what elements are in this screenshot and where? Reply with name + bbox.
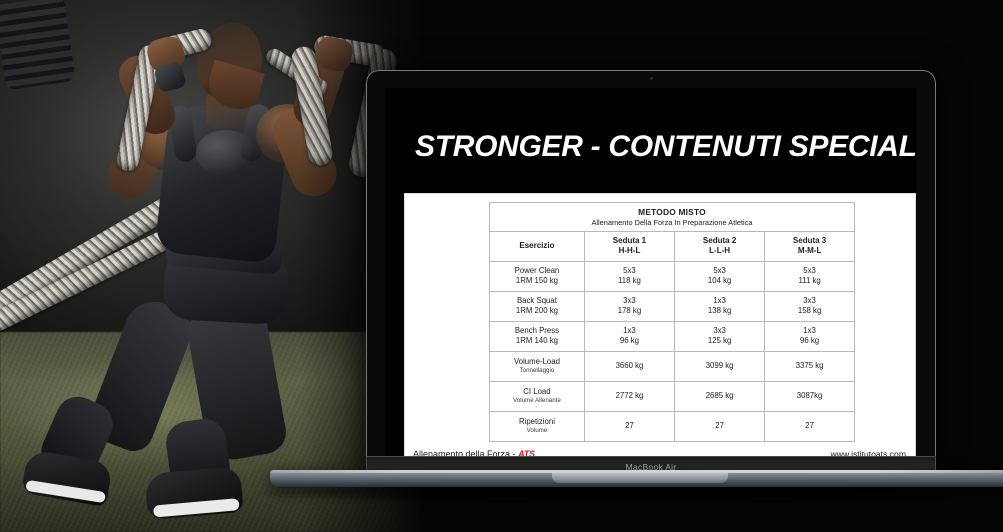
load: 104 kg xyxy=(677,276,762,286)
load: 118 kg xyxy=(587,276,672,286)
load: 158 kg xyxy=(767,306,852,316)
column-header-seduta-2: Seduta 2 L-L-H xyxy=(675,232,765,261)
laptop-drop-shadow xyxy=(246,484,1003,504)
summary-value-seduta-1: 27 xyxy=(584,411,674,441)
column-header-label: Esercizio xyxy=(492,241,582,251)
summary-value-seduta-1: 2772 kg xyxy=(584,381,674,411)
summary-value-seduta-2: 2685 kg xyxy=(675,381,765,411)
screenshot-stage: STRONGER - CONTENUTI SPECIALI METODO MIS… xyxy=(0,0,1003,532)
summary-value-seduta-2: 27 xyxy=(675,411,765,441)
exercise-cell-seduta-2: 5x3 104 kg xyxy=(675,261,765,291)
laptop-screen: STRONGER - CONTENUTI SPECIALI METODO MIS… xyxy=(385,88,917,456)
column-header-label: Seduta 1 xyxy=(587,236,672,246)
exercise-name-cell: Bench Press 1RM 140 kg xyxy=(490,321,585,351)
summary-label-cell: Volume-Load Tonnellaggio xyxy=(490,351,585,381)
summary-value-seduta-3: 3087kg xyxy=(765,381,855,411)
sets-reps: 1x3 xyxy=(587,326,672,336)
column-header-esercizio: Esercizio xyxy=(490,232,585,261)
load: 111 kg xyxy=(767,276,852,286)
summary-value-seduta-1: 3660 kg xyxy=(584,351,674,381)
sets-reps: 5x3 xyxy=(677,266,762,276)
summary-name: Volume-Load xyxy=(492,357,582,367)
table-row: Power Clean 1RM 150 kg 5x3 118 kg 5x3 10… xyxy=(490,261,855,291)
laptop-mockup: STRONGER - CONTENUTI SPECIALI METODO MIS… xyxy=(336,52,936,452)
exercise-cell-seduta-1: 3x3 178 kg xyxy=(584,291,674,321)
sets-reps: 5x3 xyxy=(767,266,852,276)
athlete-chest-highlight xyxy=(196,130,256,176)
slide-footer-url: www.istitutoats.com xyxy=(831,449,906,456)
laptop-base-notch xyxy=(552,473,728,483)
slide-footer-text: Allenamento della Forza - xyxy=(413,449,518,456)
load: 96 kg xyxy=(767,336,852,346)
table-row: Volume-Load Tonnellaggio 3660 kg 3099 kg… xyxy=(490,351,855,381)
webcam-icon xyxy=(650,77,653,80)
sets-reps: 1x3 xyxy=(677,296,762,306)
exercise-1rm: 1RM 200 kg xyxy=(492,306,582,316)
sets-reps: 3x3 xyxy=(677,326,762,336)
exercise-name-cell: Back Squat 1RM 200 kg xyxy=(490,291,585,321)
exercise-cell-seduta-3: 5x3 111 kg xyxy=(765,261,855,291)
laptop-base xyxy=(270,470,1003,487)
exercise-cell-seduta-3: 3x3 158 kg xyxy=(765,291,855,321)
table-row: Back Squat 1RM 200 kg 3x3 178 kg 1x3 138… xyxy=(490,291,855,321)
exercise-name: Back Squat xyxy=(492,296,582,306)
metodo-misto-table: METODO MISTO Allenamento Della Forza In … xyxy=(489,202,855,442)
column-header-sub: H-H-L xyxy=(587,246,672,256)
exercise-name: Bench Press xyxy=(492,326,582,336)
load: 96 kg xyxy=(587,336,672,346)
summary-sub: Volume Allenante xyxy=(492,397,582,405)
sets-reps: 3x3 xyxy=(587,296,672,306)
summary-sub: Volume xyxy=(492,427,582,435)
exercise-name: Power Clean xyxy=(492,266,582,276)
column-header-label: Seduta 3 xyxy=(767,236,852,246)
summary-label-cell: CI Load Volume Allenante xyxy=(490,381,585,411)
laptop-lid: STRONGER - CONTENUTI SPECIALI METODO MIS… xyxy=(366,70,936,470)
column-header-sub: M-M-L xyxy=(767,246,852,256)
athlete-wristband xyxy=(153,61,186,93)
summary-name: Ripetizioni xyxy=(492,417,582,427)
exercise-cell-seduta-1: 1x3 96 kg xyxy=(584,321,674,351)
exercise-1rm: 1RM 150 kg xyxy=(492,276,582,286)
exercise-1rm: 1RM 140 kg xyxy=(492,336,582,346)
table-header-row: Esercizio Seduta 1 H-H-L Seduta 2 L-L-H xyxy=(490,232,855,261)
summary-value-seduta-3: 3375 kg xyxy=(765,351,855,381)
table-row: Bench Press 1RM 140 kg 1x3 96 kg 3x3 125… xyxy=(490,321,855,351)
table-title: METODO MISTO xyxy=(492,207,852,218)
slide-footer: Allenamento della Forza - ATS www.istitu… xyxy=(405,449,915,456)
summary-sub: Tonnellaggio xyxy=(492,367,582,375)
exercise-cell-seduta-3: 1x3 96 kg xyxy=(765,321,855,351)
table-title-cell: METODO MISTO Allenamento Della Forza In … xyxy=(490,203,855,232)
sets-reps: 5x3 xyxy=(587,266,672,276)
exercise-cell-seduta-2: 1x3 138 kg xyxy=(675,291,765,321)
summary-label-cell: Ripetizioni Volume xyxy=(490,411,585,441)
table-row: Ripetizioni Volume 27 27 27 xyxy=(490,411,855,441)
summary-name: CI Load xyxy=(492,387,582,397)
load: 138 kg xyxy=(677,306,762,316)
load: 178 kg xyxy=(587,306,672,316)
slide-footer-left: Allenamento della Forza - ATS xyxy=(413,449,535,456)
sets-reps: 3x3 xyxy=(767,296,852,306)
load: 125 kg xyxy=(677,336,762,346)
summary-value-seduta-2: 3099 kg xyxy=(675,351,765,381)
table-title-row: METODO MISTO Allenamento Della Forza In … xyxy=(490,203,855,232)
column-header-sub: L-L-H xyxy=(677,246,762,256)
summary-value-seduta-3: 27 xyxy=(765,411,855,441)
sets-reps: 1x3 xyxy=(767,326,852,336)
table-subtitle: Allenamento Della Forza In Preparazione … xyxy=(492,218,852,227)
exercise-name-cell: Power Clean 1RM 150 kg xyxy=(490,261,585,291)
column-header-label: Seduta 2 xyxy=(677,236,762,246)
slide-title: STRONGER - CONTENUTI SPECIALI xyxy=(415,130,905,164)
column-header-seduta-1: Seduta 1 H-H-L xyxy=(584,232,674,261)
ats-brand-label: ATS xyxy=(518,449,535,456)
exercise-cell-seduta-1: 5x3 118 kg xyxy=(584,261,674,291)
exercise-cell-seduta-2: 3x3 125 kg xyxy=(675,321,765,351)
column-header-seduta-3: Seduta 3 M-M-L xyxy=(765,232,855,261)
presentation-slide: METODO MISTO Allenamento Della Forza In … xyxy=(405,194,915,456)
athlete-right-shoe xyxy=(144,466,244,520)
table-row: CI Load Volume Allenante 2772 kg 2685 kg… xyxy=(490,381,855,411)
